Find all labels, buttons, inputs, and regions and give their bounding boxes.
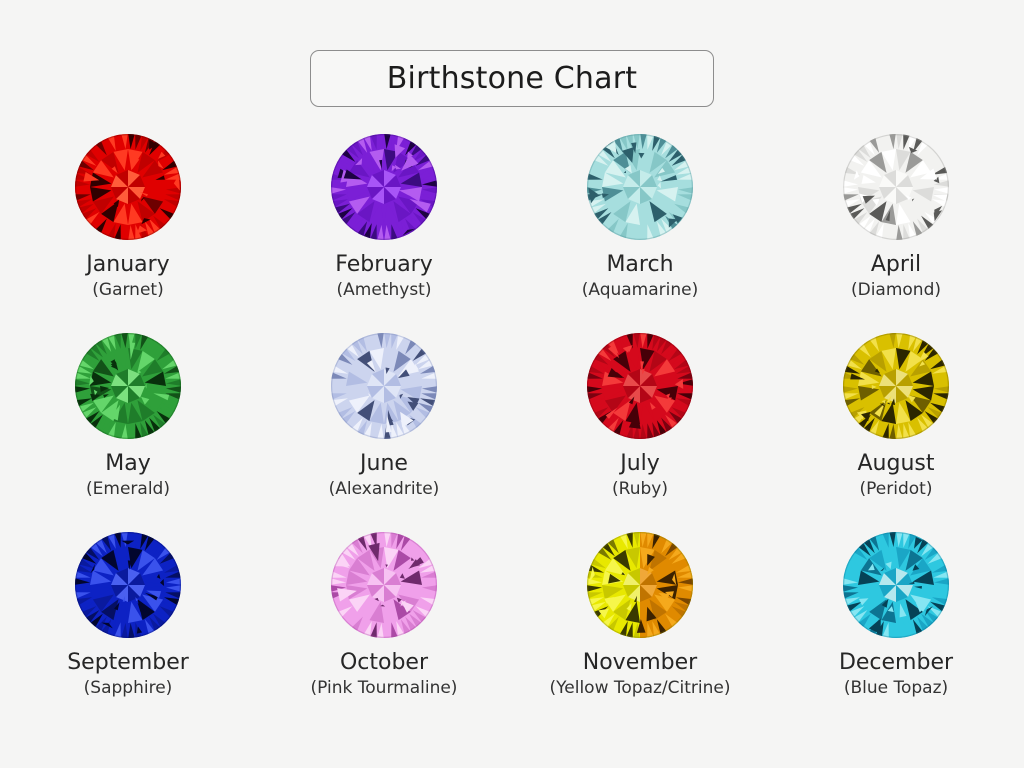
round-brilliant-gem-icon (330, 332, 438, 440)
round-brilliant-gem-icon (842, 133, 950, 241)
birthstone-month-label: February (335, 252, 433, 277)
birthstone-stone-label: (Blue Topaz) (844, 678, 948, 698)
birthstone-stone-label: (Alexandrite) (329, 479, 440, 499)
birthstone-stone-label: (Aquamarine) (582, 280, 699, 300)
birthstone-cell-february[interactable]: February(Amethyst) (256, 133, 512, 332)
birthstone-cell-april[interactable]: April(Diamond) (768, 133, 1024, 332)
round-brilliant-gem-icon (842, 531, 950, 639)
birthstone-cell-january[interactable]: January(Garnet) (0, 133, 256, 332)
birthstone-stone-label: (Ruby) (612, 479, 668, 499)
birthstone-month-label: June (360, 451, 408, 476)
round-brilliant-gem-icon (330, 133, 438, 241)
birthstone-cell-october[interactable]: October(Pink Tourmaline) (256, 531, 512, 730)
birthstone-month-label: July (620, 451, 660, 476)
birthstone-stone-label: (Diamond) (851, 280, 941, 300)
round-brilliant-gem-icon (586, 332, 694, 440)
round-brilliant-gem-icon (74, 531, 182, 639)
birthstone-month-label: April (871, 252, 921, 277)
round-brilliant-gem-icon (74, 332, 182, 440)
birthstone-month-label: March (606, 252, 673, 277)
birthstone-month-label: December (839, 650, 953, 675)
birthstone-cell-july[interactable]: July(Ruby) (512, 332, 768, 531)
birthstone-month-label: October (340, 650, 428, 675)
birthstone-month-label: September (67, 650, 189, 675)
birthstone-stone-label: (Pink Tourmaline) (311, 678, 458, 698)
birthstone-stone-label: (Peridot) (860, 479, 933, 499)
birthstone-cell-december[interactable]: December(Blue Topaz) (768, 531, 1024, 730)
round-brilliant-gem-icon (74, 133, 182, 241)
birthstone-cell-september[interactable]: September(Sapphire) (0, 531, 256, 730)
birthstone-cell-june[interactable]: June(Alexandrite) (256, 332, 512, 531)
page-title: Birthstone Chart (387, 61, 637, 96)
birthstone-stone-label: (Yellow Topaz/Citrine) (550, 678, 731, 698)
birthstone-cell-may[interactable]: May(Emerald) (0, 332, 256, 531)
round-brilliant-gem-icon (586, 531, 694, 639)
birthstone-month-label: November (583, 650, 697, 675)
birthstone-cell-august[interactable]: August(Peridot) (768, 332, 1024, 531)
birthstone-stone-label: (Sapphire) (84, 678, 173, 698)
birthstone-stone-label: (Amethyst) (337, 280, 432, 300)
birthstone-cell-november[interactable]: November(Yellow Topaz/Citrine) (512, 531, 768, 730)
round-brilliant-gem-icon (842, 332, 950, 440)
birthstone-cell-march[interactable]: March(Aquamarine) (512, 133, 768, 332)
birthstone-month-label: August (858, 451, 935, 476)
birthstone-month-label: January (86, 252, 169, 277)
birthstone-stone-label: (Emerald) (86, 479, 170, 499)
round-brilliant-gem-icon (586, 133, 694, 241)
birthstone-grid: January(Garnet)February(Amethyst)March(A… (0, 133, 1024, 730)
birthstone-stone-label: (Garnet) (92, 280, 163, 300)
chart-title-box: Birthstone Chart (310, 50, 714, 107)
round-brilliant-gem-icon (330, 531, 438, 639)
birthstone-month-label: May (105, 451, 150, 476)
